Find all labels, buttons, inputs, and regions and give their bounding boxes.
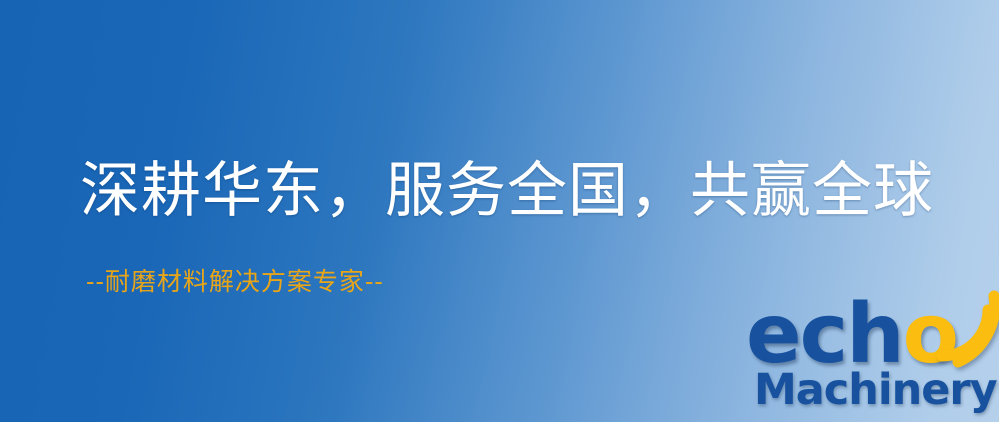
logo-subtext-label: Machinery — [754, 365, 997, 415]
logo-subtext: Machinery® — [754, 366, 999, 412]
banner-headline: 深耕华东，服务全国，共赢全球 — [80, 155, 934, 227]
echo-wave-arcs-icon — [932, 290, 999, 370]
banner-subheadline: --耐磨材料解决方案专家-- — [86, 266, 384, 298]
company-logo[interactable]: echo Machinery® — [742, 294, 999, 422]
logo-wordmark: echo — [746, 294, 957, 376]
promo-banner: 深耕华东，服务全国，共赢全球 --耐磨材料解决方案专家-- echo Machi… — [0, 0, 999, 422]
